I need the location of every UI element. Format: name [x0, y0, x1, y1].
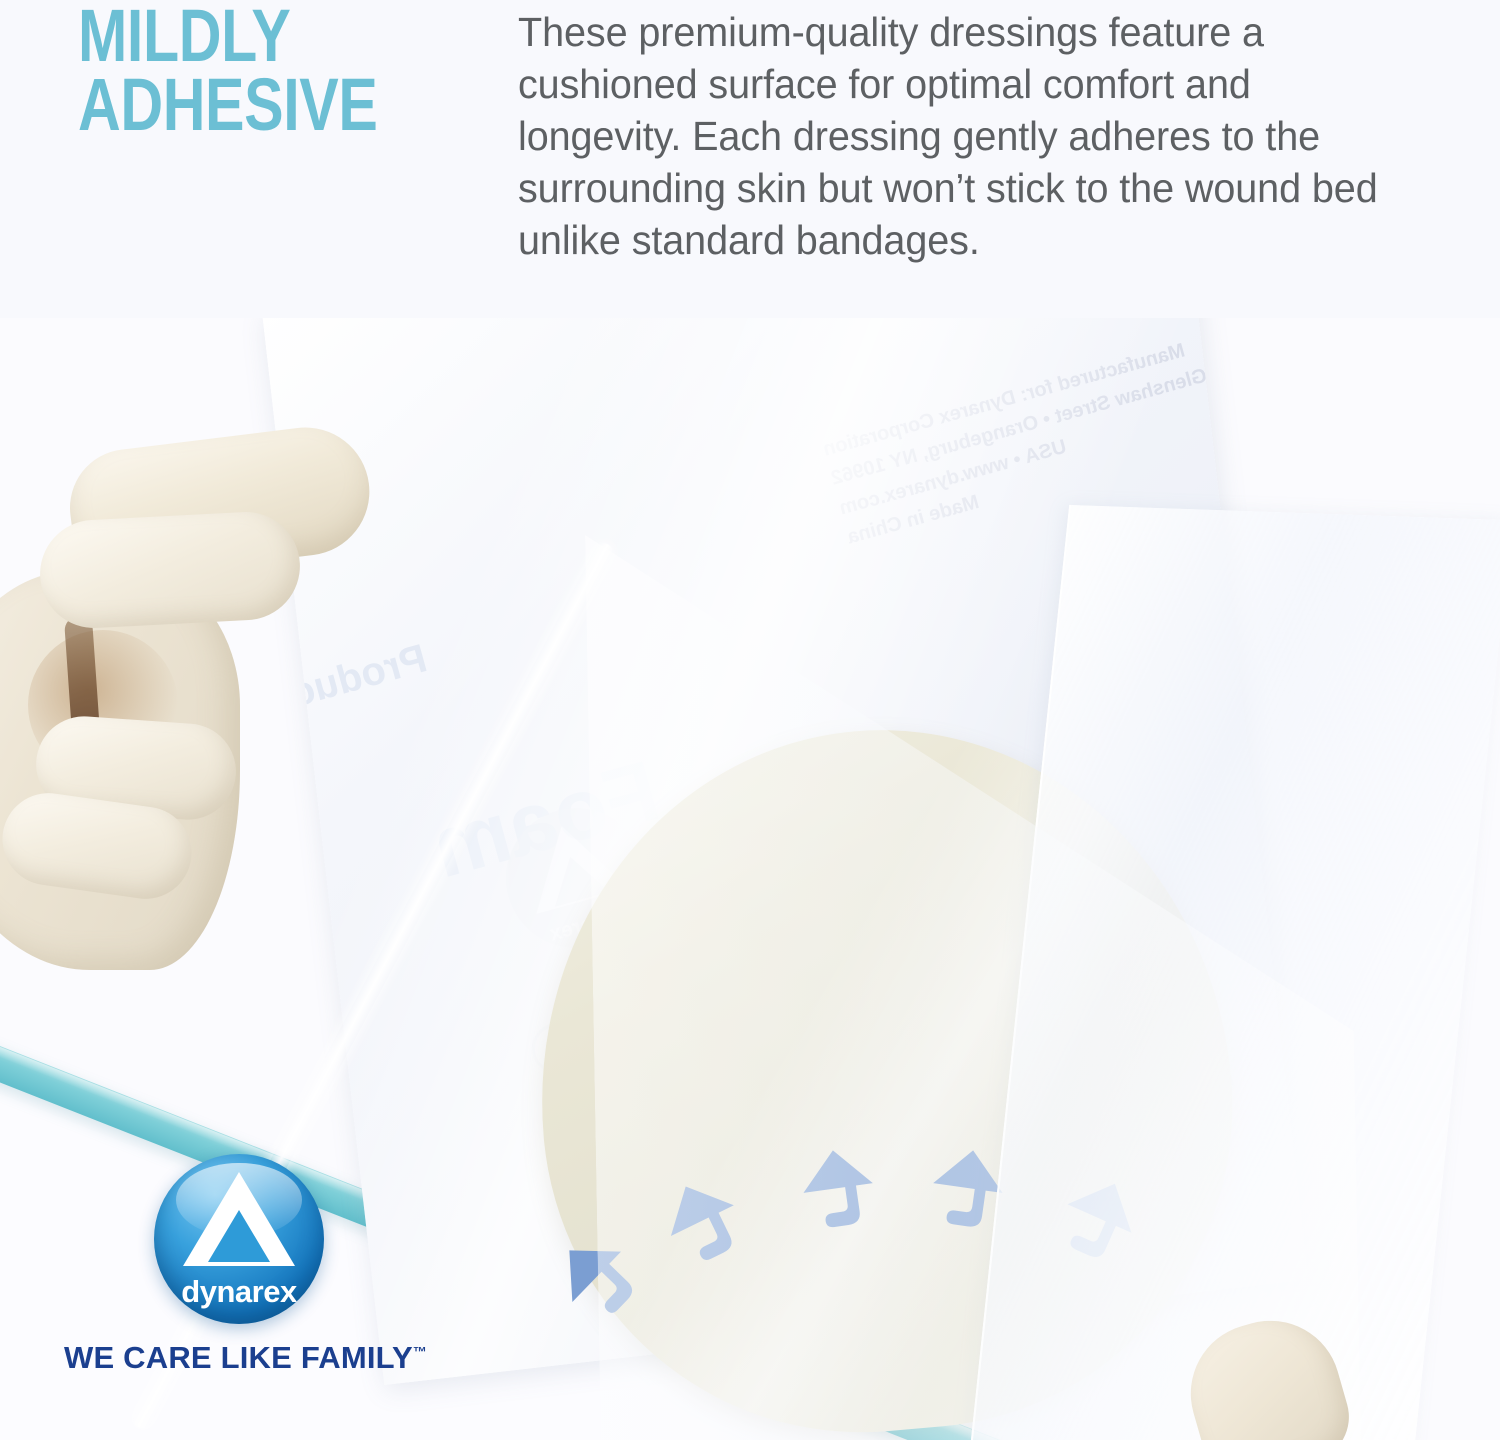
brand-tagline-text: WE CARE LIKE FAMILY — [64, 1340, 413, 1375]
trademark-symbol: ™ — [413, 1344, 427, 1360]
brand-tagline: WE CARE LIKE FAMILY™ — [64, 1340, 414, 1376]
dynarex-wordmark: dynarex — [154, 1274, 324, 1310]
dynarex-logo-icon: dynarex — [154, 1154, 324, 1324]
product-marketing-image: Manufactured for: Dynarex Corporation 10… — [0, 0, 1500, 1440]
headline: MILDLY ADHESIVE — [78, 2, 414, 140]
body-copy: These premium-quality dressings feature … — [518, 6, 1415, 266]
glove-index-finger — [37, 509, 302, 630]
dynarex-triangle-cutout — [208, 1210, 270, 1262]
dynarex-logo-block: dynarex WE CARE LIKE FAMILY™ — [64, 1154, 414, 1376]
header-text-band: MILDLY ADHESIVE These premium-quality dr… — [0, 0, 1500, 318]
gloved-hand — [0, 420, 370, 960]
